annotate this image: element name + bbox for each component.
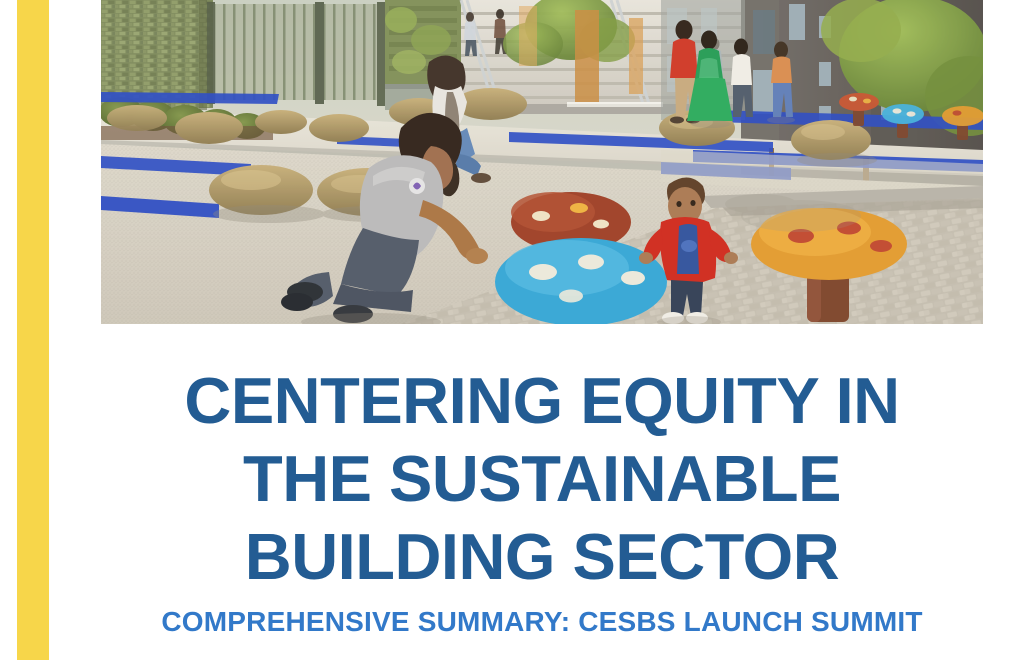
hero-photo [101, 0, 983, 324]
hero-photo-illustration [101, 0, 983, 324]
cover-text-block: CENTERING EQUITY IN THE SUSTAINABLE BUIL… [101, 362, 983, 639]
page-title-line-2: THE SUSTAINABLE [101, 440, 983, 518]
cover-page: CENTERING EQUITY IN THE SUSTAINABLE BUIL… [0, 0, 1020, 660]
yellow-accent-bar [17, 0, 49, 660]
page-title-line-3: BUILDING SECTOR [101, 518, 983, 596]
page-title-line-1: CENTERING EQUITY IN [101, 362, 983, 440]
page-subtitle: COMPREHENSIVE SUMMARY: CESBS LAUNCH SUMM… [101, 596, 983, 639]
